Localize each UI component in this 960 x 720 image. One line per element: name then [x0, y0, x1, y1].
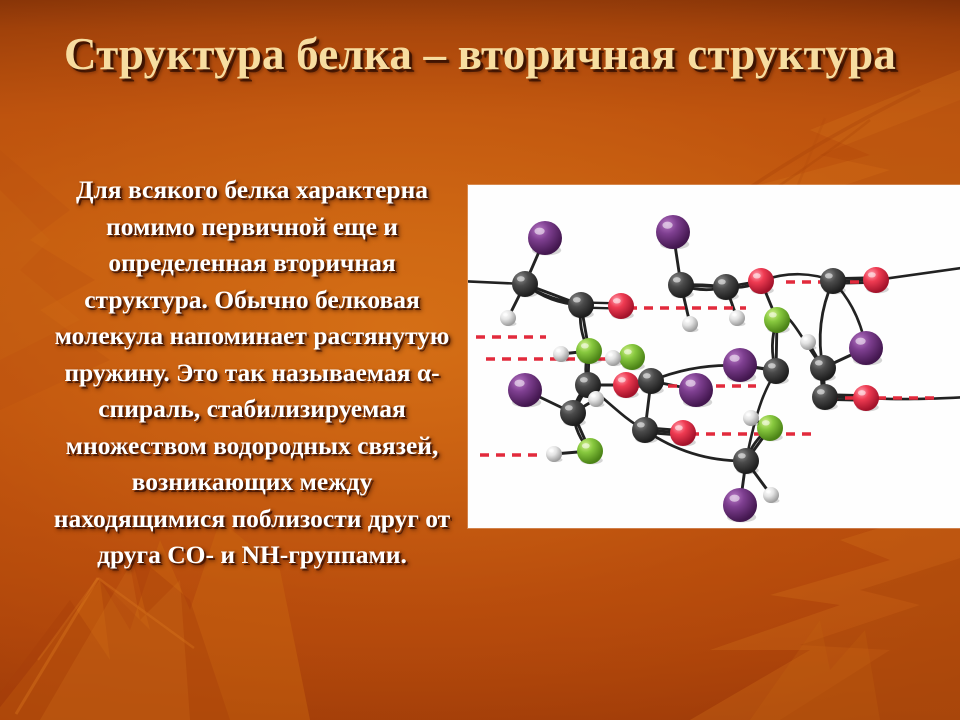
hydrogen-bonds — [476, 282, 938, 455]
atom-hydrogen — [588, 391, 604, 407]
page-title: Структура белка – вторичная структура — [60, 28, 900, 81]
atom-carbon — [512, 271, 538, 297]
atom-carbon — [668, 272, 694, 298]
atom-carbon — [820, 268, 846, 294]
atom-side-chain-group — [528, 221, 562, 255]
atom-side-chain-group — [723, 348, 757, 382]
atom-side-chain-group — [723, 488, 757, 522]
alpha-helix-molecule-diagram — [468, 185, 960, 528]
atom-hydrogen — [553, 346, 569, 362]
molecule-figure-panel — [468, 185, 960, 528]
slide-body-container: Для всякого белка характерна помимо перв… — [52, 172, 452, 574]
presentation-slide: Структура белка – вторичная структура Дл… — [0, 0, 960, 720]
atom-hydrogen — [763, 487, 779, 503]
atom-hydrogen — [729, 310, 745, 326]
slide-title-container: Структура белка – вторичная структура — [60, 28, 900, 81]
atom-carbon — [568, 292, 594, 318]
atom-hydrogen — [682, 316, 698, 332]
background-leaf-decoration-bottomright — [690, 500, 960, 720]
atom-carbon — [560, 400, 586, 426]
atom-carbon — [733, 448, 759, 474]
atom-hydrogen — [605, 350, 621, 366]
atom-hydrogen — [546, 446, 562, 462]
atom-carbon — [713, 274, 739, 300]
atom-carbon — [632, 417, 658, 443]
atom-nitrogen — [757, 415, 783, 441]
atom-oxygen — [863, 267, 889, 293]
atom-carbon — [763, 358, 789, 384]
atom-oxygen — [670, 420, 696, 446]
atom-carbon — [810, 355, 836, 381]
atom-carbon — [812, 384, 838, 410]
atom-side-chain-group — [679, 373, 713, 407]
atom-side-chain-group — [656, 215, 690, 249]
atom-nitrogen — [619, 344, 645, 370]
body-paragraph: Для всякого белка характерна помимо перв… — [52, 172, 452, 574]
atom-hydrogen — [500, 310, 516, 326]
atom-carbon — [638, 368, 664, 394]
atom-side-chain-group — [849, 331, 883, 365]
atom-hydrogen — [800, 334, 816, 350]
atom-oxygen — [853, 385, 879, 411]
atom-side-chain-group — [508, 373, 542, 407]
atom-oxygen — [748, 268, 774, 294]
atom-oxygen — [608, 293, 634, 319]
atom-oxygen — [613, 372, 639, 398]
atom-nitrogen — [764, 307, 790, 333]
atom-nitrogen — [576, 338, 602, 364]
atom-nitrogen — [577, 438, 603, 464]
